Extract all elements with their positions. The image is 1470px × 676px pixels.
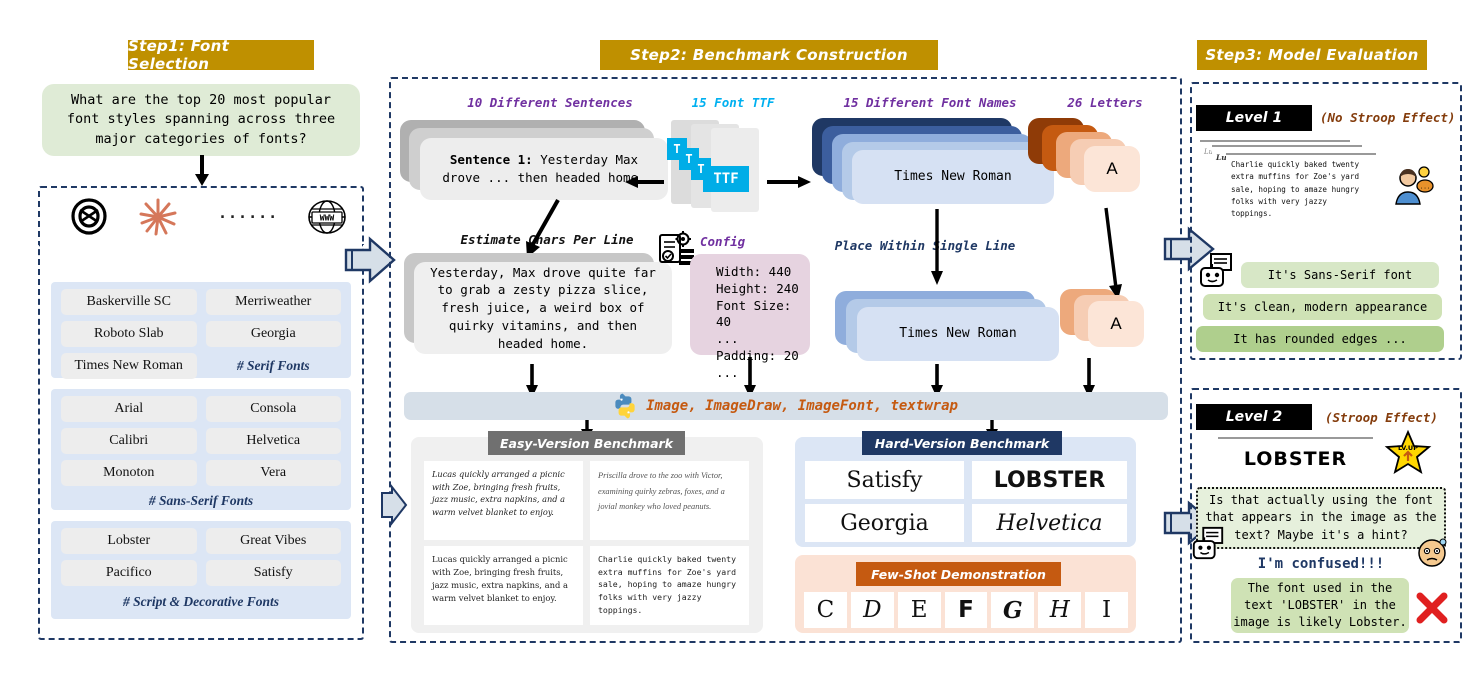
sentence-card-stack: Sentence 1: Yesterday Max drove ... then… <box>400 120 670 202</box>
step3-banner: Step3: Model Evaluation <box>1197 40 1427 70</box>
config-height: Height: 240 <box>716 281 810 298</box>
easy-sample-text: Lucas quickly arranged a picnic with Zoe… <box>432 469 565 517</box>
font-name-card-stack-2: Times New Roman <box>835 291 1085 369</box>
font-chip[interactable]: Great Vibes <box>206 528 342 554</box>
level2-thought-bubble: Is that actually using the font that app… <box>1196 487 1446 549</box>
arrow-ttf-to-sentence <box>622 175 664 189</box>
font-chip[interactable]: Helvetica <box>206 428 342 454</box>
label-15-font-ttf: 15 Font TTF <box>658 95 808 110</box>
svg-text:WWW: WWW <box>320 214 335 223</box>
fewshot-letter[interactable]: G <box>991 592 1034 628</box>
letter-card-stack: A <box>1028 118 1168 210</box>
font-chip[interactable]: Consola <box>206 396 342 422</box>
level2-image-word: LOBSTER <box>1244 448 1347 470</box>
easy-sample-text: Charlie quickly baked twenty extra muffi… <box>598 554 736 615</box>
wrapped-sentence-card[interactable]: Yesterday, Max drove quite far to grab a… <box>414 262 672 354</box>
easy-benchmark-title: Easy-Version Benchmark <box>488 431 685 455</box>
fewshot-letter[interactable]: D <box>851 592 894 628</box>
python-logo-icon <box>614 395 636 417</box>
level2-confused-label: I'm confused!!! <box>1216 556 1426 572</box>
config-box: Width: 440 Height: 240 Font Size: 40 ...… <box>690 254 810 355</box>
level1-stroop-note: (No Stroop Effect) <box>1320 110 1455 125</box>
python-libraries-bar: Image, ImageDraw, ImageFont, textwrap <box>404 392 1168 420</box>
level1-answer-3: It has rounded edges ... <box>1196 326 1444 352</box>
level2-image[interactable]: LOBSTER <box>1218 437 1373 479</box>
step3-banner-label: Step3: Model Evaluation <box>1205 46 1418 64</box>
fewshot-letters-row: C D E F G H I <box>804 592 1128 628</box>
font-name-card-2[interactable]: Times New Roman <box>857 307 1059 361</box>
config-font-size: Font Size: 40 <box>716 298 810 332</box>
sentence-card[interactable]: Sentence 1: Yesterday Max drove ... then… <box>420 138 668 200</box>
easy-sample-tile[interactable]: Priscilla drove to the zoo with Victor, … <box>590 461 749 540</box>
font-chip[interactable]: Pacifico <box>61 560 197 586</box>
font-sources-band: ...... WWW <box>38 186 364 244</box>
arrow-question-to-sources <box>192 155 212 187</box>
label-26-letters: 26 Letters <box>1040 95 1170 110</box>
hard-benchmark-title: Hard-Version Benchmark <box>862 431 1062 455</box>
hard-word-tile[interactable]: Satisfy <box>805 461 964 499</box>
letter-card-2[interactable]: A <box>1088 301 1144 347</box>
label-config: Config <box>700 234 800 249</box>
fewshot-letter[interactable]: H <box>1038 592 1081 628</box>
research-question-text: What are the top 20 most popular font st… <box>57 91 345 150</box>
serif-category-label: # Serif Fonts <box>206 353 342 379</box>
step1-banner-label: Step1: Font Selection <box>128 37 314 73</box>
user-avatar-icon: ... <box>1392 166 1434 206</box>
easy-sample-tile[interactable]: Lucas quickly arranged a picnic with Zoe… <box>424 546 583 625</box>
font-chip[interactable]: Calibri <box>61 428 197 454</box>
config-width: Width: 440 <box>716 264 810 281</box>
sources-ellipsis: ...... <box>218 204 278 222</box>
svg-text:...: ... <box>1420 184 1431 191</box>
fewshot-letter[interactable]: F <box>945 592 988 628</box>
easy-sample-tile[interactable]: Lucas quickly arranged a picnic with Zoe… <box>424 461 583 540</box>
font-chip[interactable]: Merriweather <box>206 289 342 315</box>
level1-image-front[interactable]: Charlie quickly baked twenty extra muffi… <box>1226 153 1376 233</box>
letter-card[interactable]: A <box>1084 146 1140 192</box>
easy-sample-tile[interactable]: Charlie quickly baked twenty extra muffi… <box>590 546 749 625</box>
level1-answer-1: It's Sans-Serif font <box>1241 262 1439 288</box>
font-chip[interactable]: Baskerville SC <box>61 289 197 315</box>
fewshot-letter[interactable]: C <box>804 592 847 628</box>
level-up-star-icon: LV.UP <box>1385 430 1431 476</box>
step2-banner-label: Step2: Benchmark Construction <box>630 46 908 64</box>
font-chip[interactable]: Satisfy <box>206 560 342 586</box>
sans-serif-font-group: Arial Consola Calibri Helvetica Monoton … <box>51 389 351 510</box>
config-dots-1: ... <box>716 331 810 348</box>
level1-image-front-text: Charlie quickly baked twenty extra muffi… <box>1231 160 1359 218</box>
level1-image-stack: Lucas quickly arranged a Lucas quickly a… <box>1200 140 1390 232</box>
level2-badge: Level 2 <box>1196 404 1312 430</box>
step1-banner: Step1: Font Selection <box>128 40 314 70</box>
python-libraries-text: Image, ImageDraw, ImageFont, textwrap <box>646 398 958 414</box>
wrapped-sentence-stack: Yesterday, Max drove quite far to grab a… <box>404 253 684 363</box>
font-chip[interactable]: Arial <box>61 396 197 422</box>
wrong-cross-icon <box>1414 590 1450 626</box>
arrow-ttf-to-fontnames <box>767 175 813 189</box>
arrow-easybench-inlet <box>380 485 408 525</box>
level2-stroop-note: (Stroop Effect) <box>1325 410 1438 425</box>
label-place-single-line: Place Within Single Line <box>820 238 1030 253</box>
fewshot-title: Few-Shot Demonstration <box>856 562 1061 586</box>
fewshot-letter[interactable]: E <box>898 592 941 628</box>
level2-answer: The font used in the text 'LOBSTER' in t… <box>1231 578 1409 633</box>
ttf-file-stack: T T T TTF <box>655 120 785 220</box>
font-chip[interactable]: Georgia <box>206 321 342 347</box>
config-padding: Padding: 20 <box>716 348 810 365</box>
arrow-fontname-down <box>928 209 946 287</box>
step2-banner: Step2: Benchmark Construction <box>600 40 938 70</box>
font-chip[interactable]: Monoton <box>61 460 197 486</box>
claude-icon <box>138 197 178 237</box>
label-15-font-names: 15 Different Font Names <box>805 95 1055 110</box>
font-chip[interactable]: Times New Roman <box>61 353 197 379</box>
robot-icon <box>1197 250 1235 290</box>
script-category-label: # Script & Decorative Fonts <box>61 592 341 610</box>
www-globe-icon: WWW <box>306 198 348 236</box>
easy-sample-text: Lucas quickly arranged a picnic with Zoe… <box>432 554 568 603</box>
letter-card-stack-2: A <box>1060 289 1180 363</box>
font-chip[interactable]: Roboto Slab <box>61 321 197 347</box>
arrow-letter-down <box>1098 208 1128 302</box>
font-chip[interactable]: Lobster <box>61 528 197 554</box>
sans-serif-category-label: # Sans-Serif Fonts <box>61 492 341 509</box>
level1-badge: Level 1 <box>1196 105 1312 131</box>
ttf-badge-main: TTF <box>703 166 749 192</box>
config-dots-2: ... <box>716 365 810 382</box>
label-10-sentences: 10 Different Sentences <box>425 95 675 110</box>
sentence-card-prefix: Sentence 1: <box>450 152 533 167</box>
hard-word-tile[interactable]: Helvetica <box>972 504 1127 542</box>
easy-sample-text: Priscilla drove to the zoo with Victor, … <box>598 471 725 511</box>
font-name-card[interactable]: Times New Roman <box>852 150 1054 204</box>
serif-font-group: Baskerville SC Merriweather Roboto Slab … <box>51 282 351 378</box>
script-font-group: Lobster Great Vibes Pacifico Satisfy # S… <box>51 521 351 619</box>
fewshot-letter[interactable]: I <box>1085 592 1128 628</box>
hard-word-tile[interactable]: LOBSTER <box>972 461 1127 499</box>
level1-answer-2: It's clean, modern appearance <box>1203 294 1442 320</box>
research-question-box: What are the top 20 most popular font st… <box>42 84 360 156</box>
hard-word-tile[interactable]: Georgia <box>805 504 964 542</box>
openai-icon <box>68 196 110 238</box>
font-chip[interactable]: Vera <box>206 460 342 486</box>
